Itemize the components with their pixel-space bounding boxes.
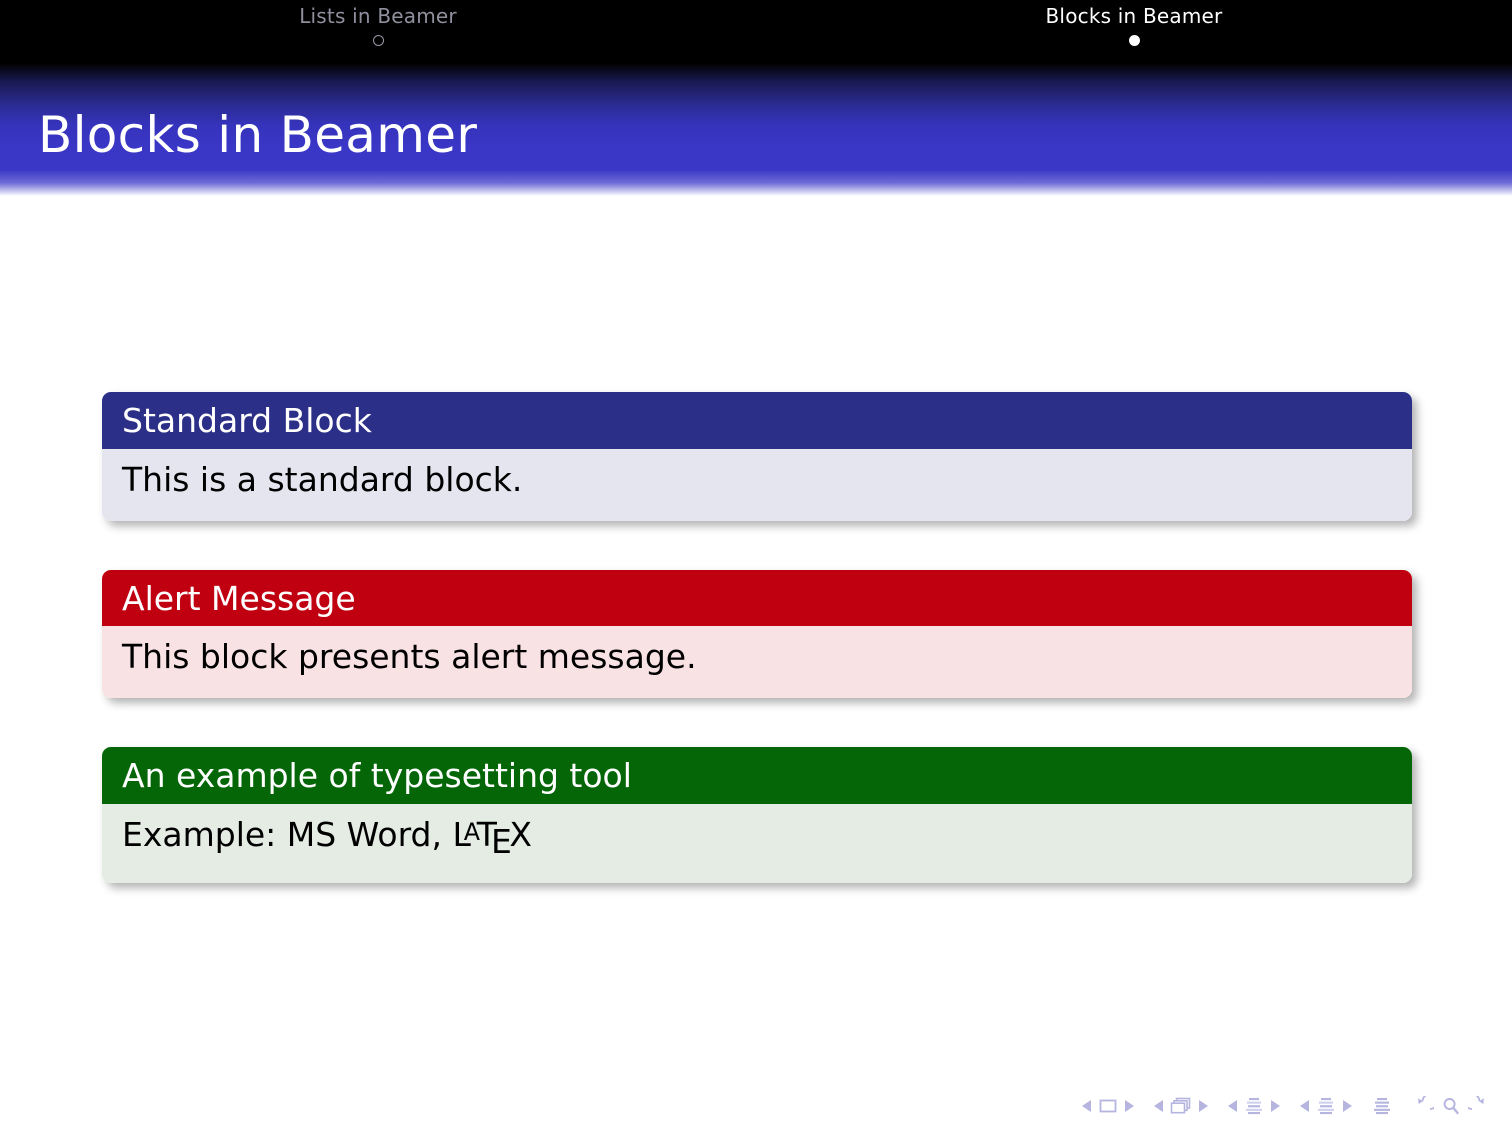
next-section-icon[interactable] [1343,1100,1352,1112]
standard-block-body: This is a standard block. [102,449,1412,521]
document-navigation-group [1372,1097,1392,1115]
alert-block: Alert Message This block presents alert … [102,570,1412,699]
nav-section-label: Lists in Beamer [0,0,756,26]
prev-section-icon[interactable] [1300,1100,1309,1112]
nav-section-blocks-in-beamer[interactable]: Blocks in Beamer [756,0,1512,63]
subsection-navigation-group [1228,1097,1280,1115]
section-icon[interactable] [1316,1097,1336,1115]
example-block-body: Example: MS Word, LATEX [102,804,1412,883]
standard-block-title: Standard Block [102,392,1412,449]
frame-title-bar: Blocks in Beamer [0,63,1512,196]
beamer-navigation-symbols [1082,1096,1490,1116]
next-slide-icon[interactable] [1125,1100,1134,1112]
example-block-title: An example of typesetting tool [102,747,1412,804]
nav-section-lists-in-beamer[interactable]: Lists in Beamer [0,0,756,63]
page-title: Blocks in Beamer [38,110,477,160]
frame-navigation-group [1154,1097,1208,1115]
prev-slide-icon[interactable] [1082,1100,1091,1112]
nav-section-label: Blocks in Beamer [756,0,1512,26]
nav-section-slide-dots [0,35,756,46]
search-icon[interactable] [1441,1096,1461,1116]
alert-block-title: Alert Message [102,570,1412,627]
next-subsection-icon[interactable] [1271,1100,1280,1112]
example-block-body-text: Example: MS Word, [122,815,452,854]
history-navigation-group [1412,1096,1490,1116]
standard-block: Standard Block This is a standard block. [102,392,1412,521]
document-icon[interactable] [1372,1097,1392,1115]
slide-navigation-group [1082,1098,1134,1114]
nav-section-slide-dots [756,35,1512,46]
next-frame-icon[interactable] [1199,1100,1208,1112]
filled-circle-icon[interactable] [1129,35,1140,46]
frame-icon[interactable] [1170,1097,1192,1115]
headline-navigation-bar: Lists in Beamer Blocks in Beamer [0,0,1512,63]
subsection-icon[interactable] [1244,1097,1264,1115]
forward-icon[interactable] [1468,1096,1490,1116]
alert-block-body: This block presents alert message. [102,626,1412,698]
slide-content-area: Standard Block This is a standard block.… [102,392,1412,932]
example-block: An example of typesetting tool Example: … [102,747,1412,883]
slide-icon[interactable] [1098,1098,1118,1114]
latex-logo: LATEX [452,815,531,854]
prev-subsection-icon[interactable] [1228,1100,1237,1112]
back-icon[interactable] [1412,1096,1434,1116]
prev-frame-icon[interactable] [1154,1100,1163,1112]
hollow-circle-icon[interactable] [373,35,384,46]
section-navigation-group [1300,1097,1352,1115]
latex-x: X [509,815,532,854]
